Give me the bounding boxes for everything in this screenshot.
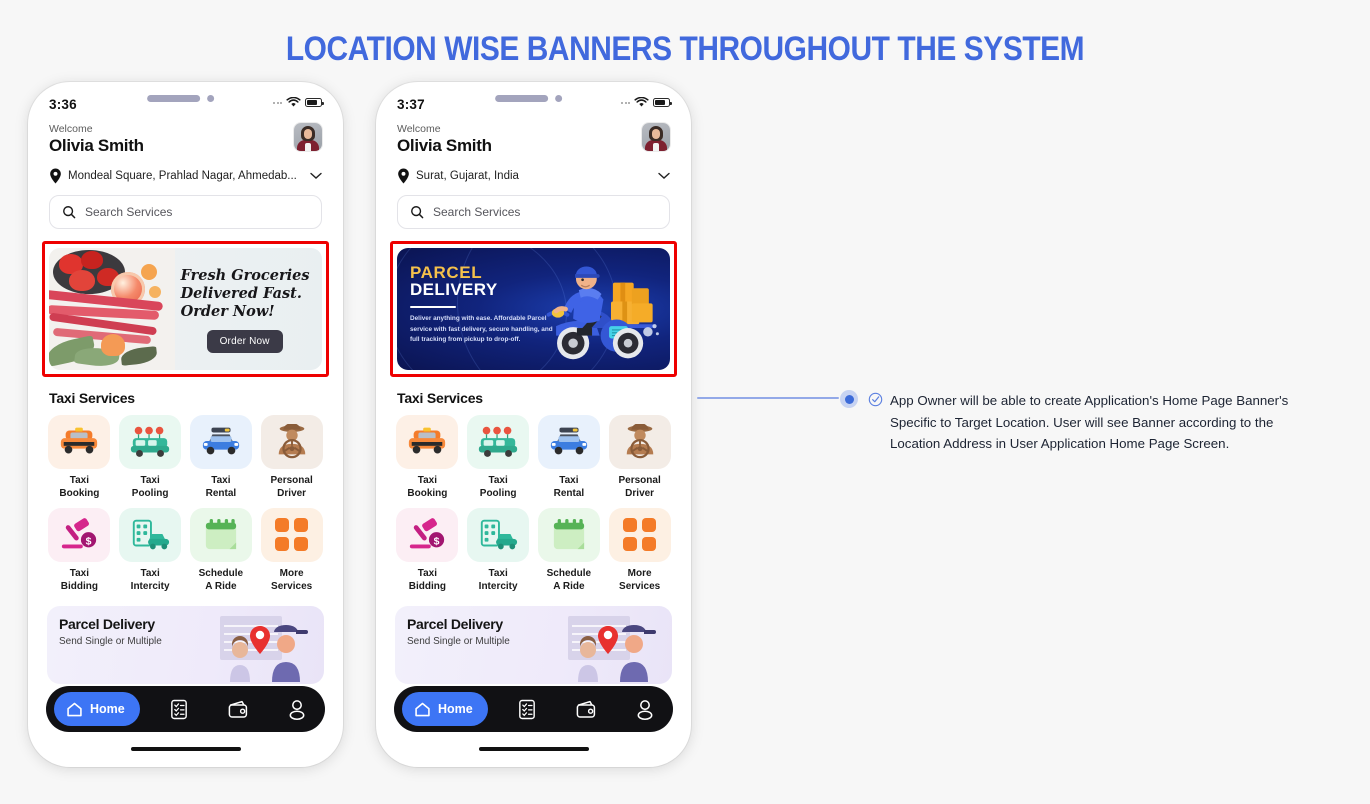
home-indicator	[479, 747, 589, 751]
personal-driver-icon	[261, 415, 323, 469]
battery-icon	[305, 98, 322, 107]
taxi-bidding-icon: $	[48, 508, 110, 562]
nav-home-label: Home	[438, 702, 473, 716]
taxi-bidding-icon: $	[396, 508, 458, 562]
home-banner-grocery[interactable]: Fresh Groceries Delivered Fast. Order No…	[49, 248, 322, 370]
location-text: Surat, Gujarat, India	[416, 170, 648, 182]
more-services-icon	[261, 508, 323, 562]
taxi-booking-icon	[396, 415, 458, 469]
taxi-intercity-icon	[119, 508, 181, 562]
search-icon	[62, 205, 76, 219]
taxi-rental-icon	[538, 415, 600, 469]
dynamic-island	[495, 95, 562, 102]
search-input[interactable]: Search Services	[397, 195, 670, 229]
taxi-pooling-icon	[467, 415, 529, 469]
personal-driver-icon	[609, 415, 671, 469]
wallet-icon	[227, 700, 249, 719]
banner-line-2: Delivered Fast.	[181, 285, 302, 303]
nav-item-home[interactable]: Home	[54, 692, 140, 726]
services-grid: Taxi Booking Tax	[35, 406, 336, 593]
home-icon	[66, 701, 83, 718]
profile-icon	[287, 699, 307, 720]
status-time: 3:37	[397, 97, 425, 112]
home-indicator	[131, 747, 241, 751]
service-taxi-booking[interactable]: TaxiBooking	[395, 415, 460, 500]
nav-item-profile[interactable]	[625, 699, 665, 720]
phone-mockup-parcel: 3:37 Welcome Olivia Smith	[376, 82, 691, 767]
grocery-photo	[49, 248, 175, 370]
banner-title-parcel: PARCEL	[410, 264, 560, 281]
banner-divider	[410, 306, 456, 309]
service-taxi-bidding[interactable]: $ TaxiBidding	[47, 508, 112, 593]
search-placeholder: Search Services	[433, 205, 520, 219]
battery-icon	[653, 98, 670, 107]
services-grid: TaxiBooking TaxiPooling	[383, 406, 684, 593]
bottom-navigation: Home	[46, 686, 325, 732]
service-schedule-ride[interactable]: ScheduleA Ride	[537, 508, 602, 593]
avatar[interactable]	[294, 123, 322, 151]
taxi-pooling-icon	[119, 415, 181, 469]
section-title-taxi-services: Taxi Services	[397, 390, 684, 406]
chevron-down-icon	[658, 172, 670, 180]
parcel-delivery-card[interactable]: Parcel Delivery Send Single or Multiple	[395, 606, 672, 684]
location-selector[interactable]: Mondeal Square, Prahlad Nagar, Ahmedab..…	[49, 168, 322, 184]
service-taxi-rental[interactable]: TaxiRental	[537, 415, 602, 500]
service-more-services[interactable]: MoreServices	[259, 508, 324, 593]
search-input[interactable]: Search Services	[49, 195, 322, 229]
schedule-ride-icon	[538, 508, 600, 562]
section-title-taxi-services: Taxi Services	[49, 390, 336, 406]
banner-title-delivery: DELIVERY	[410, 281, 560, 300]
bottom-navigation: Home	[394, 686, 673, 732]
home-banner-parcel[interactable]: PARCEL DELIVERY Deliver anything with ea…	[397, 248, 670, 370]
wifi-icon	[634, 97, 649, 108]
location-text: Mondeal Square, Prahlad Nagar, Ahmedab..…	[68, 170, 300, 182]
nav-item-orders[interactable]	[159, 699, 199, 720]
user-name: Olivia Smith	[397, 136, 492, 156]
welcome-label: Welcome	[49, 123, 144, 135]
service-label-1: Taxi	[70, 475, 89, 486]
nav-item-home[interactable]: Home	[402, 692, 488, 726]
chevron-down-icon	[310, 172, 322, 180]
nav-item-orders[interactable]	[507, 699, 547, 720]
status-bar: 3:37	[383, 89, 684, 119]
banner-description: Deliver anything with ease. Affordable P…	[410, 314, 560, 346]
nav-item-wallet[interactable]	[218, 700, 258, 719]
banner-highlight-box: Fresh Groceries Delivered Fast. Order No…	[42, 241, 329, 377]
location-selector[interactable]: Surat, Gujarat, India	[397, 168, 670, 184]
parcel-illustration	[550, 610, 670, 682]
service-taxi-pooling[interactable]: TaxiPooling	[118, 415, 183, 500]
service-taxi-booking[interactable]: Taxi Booking	[47, 415, 112, 500]
banner-highlight-box: PARCEL DELIVERY Deliver anything with ea…	[390, 241, 677, 377]
banner-line-1: Fresh Groceries	[181, 267, 310, 285]
signal-dots-icon	[273, 102, 282, 104]
phone-screen: 3:37 Welcome Olivia Smith	[383, 89, 684, 760]
svg-text:$: $	[86, 537, 92, 548]
home-icon	[414, 701, 431, 718]
nav-home-label: Home	[90, 702, 125, 716]
search-icon	[410, 205, 424, 219]
status-bar: 3:36	[35, 89, 336, 119]
check-circle-icon	[868, 392, 883, 407]
service-personal-driver[interactable]: PersonalDriver	[259, 415, 324, 500]
service-personal-driver[interactable]: PersonalDriver	[607, 415, 672, 500]
profile-icon	[635, 699, 655, 720]
annotation-bullet-dot	[840, 390, 858, 408]
welcome-label: Welcome	[397, 123, 492, 135]
status-indicators	[273, 97, 322, 108]
service-taxi-bidding[interactable]: $ TaxiBidding	[395, 508, 460, 593]
schedule-ride-icon	[190, 508, 252, 562]
service-taxi-intercity[interactable]: TaxiIntercity	[118, 508, 183, 593]
svg-text:$: $	[434, 537, 440, 548]
parcel-illustration	[202, 610, 322, 682]
orders-list-icon	[517, 699, 537, 720]
location-pin-icon	[49, 168, 62, 184]
app-header: Welcome Olivia Smith Surat, Gujarat, Ind…	[383, 119, 684, 229]
banner-line-3: Order Now!	[181, 303, 275, 321]
nav-item-profile[interactable]	[277, 699, 317, 720]
avatar[interactable]	[642, 123, 670, 151]
wifi-icon	[286, 97, 301, 108]
phone-mockup-grocery: 3:36 Welcome Olivia Smith	[28, 82, 343, 767]
location-pin-icon	[397, 168, 410, 184]
phone-screen: 3:36 Welcome Olivia Smith	[35, 89, 336, 760]
service-taxi-intercity[interactable]: TaxiIntercity	[466, 508, 531, 593]
status-time: 3:36	[49, 97, 77, 112]
service-taxi-rental[interactable]: TaxiRental	[189, 415, 254, 500]
status-indicators	[621, 97, 670, 108]
dynamic-island	[147, 95, 214, 102]
orders-list-icon	[169, 699, 189, 720]
service-schedule-ride[interactable]: ScheduleA Ride	[189, 508, 254, 593]
order-now-button[interactable]: Order Now	[207, 330, 283, 353]
taxi-booking-icon	[48, 415, 110, 469]
signal-dots-icon	[621, 102, 630, 104]
page-title: LOCATION WISE BANNERS THROUGHOUT THE SYS…	[82, 30, 1288, 69]
wallet-icon	[575, 700, 597, 719]
service-more-services[interactable]: MoreServices	[607, 508, 672, 593]
more-services-icon	[609, 508, 671, 562]
service-taxi-pooling[interactable]: TaxiPooling	[466, 415, 531, 500]
taxi-rental-icon	[190, 415, 252, 469]
annotation-text: App Owner will be able to create Applica…	[890, 390, 1322, 455]
app-header: Welcome Olivia Smith Mondeal Square, Pra…	[35, 119, 336, 229]
nav-item-wallet[interactable]	[566, 700, 606, 719]
search-placeholder: Search Services	[85, 205, 172, 219]
service-label-2: Booking	[59, 488, 99, 499]
parcel-delivery-card[interactable]: Parcel Delivery Send Single or Multiple	[47, 606, 324, 684]
taxi-intercity-icon	[467, 508, 529, 562]
user-name: Olivia Smith	[49, 136, 144, 156]
annotation-connector-line	[697, 397, 839, 399]
